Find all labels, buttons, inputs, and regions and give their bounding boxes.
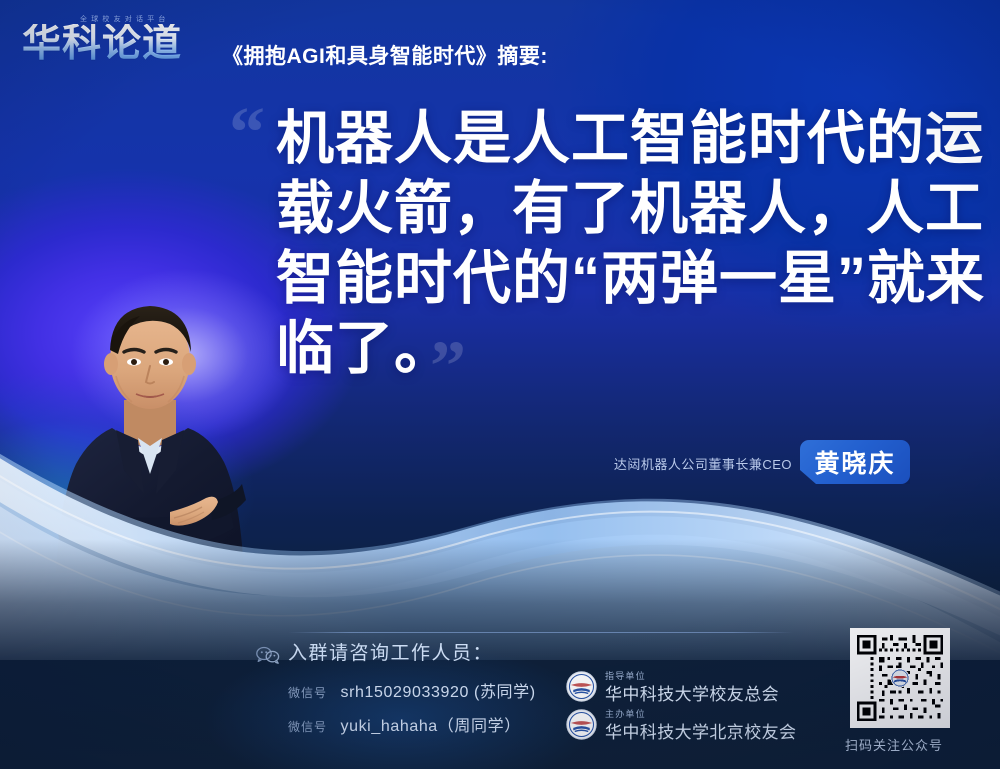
- contact-value: srh15029033920 (苏同学): [340, 684, 535, 701]
- qr-block: 扫码关注公众号: [840, 628, 960, 754]
- logo-text: 华科论道: [22, 24, 182, 63]
- attribution: 达闼机器人公司董事长兼CEO 黄晓庆: [600, 440, 910, 486]
- speaker-name: 黄晓庆: [800, 440, 910, 484]
- quote-line: 临了。: [276, 314, 956, 384]
- brand-logo: 全球校友对话平台 华科论道: [22, 14, 212, 74]
- contact-row: 微信号 srh15029033920 (苏同学): [288, 678, 536, 702]
- quote-text: 机器人是人工智能时代的运 载火箭，有了机器人，人工 智能时代的“两弹一星”就来 …: [276, 104, 956, 384]
- qr-code[interactable]: [850, 628, 950, 728]
- contact-label: 微信号: [288, 720, 327, 734]
- quote-line: 载火箭，有了机器人，人工: [276, 174, 956, 244]
- quote-line: 机器人是人工智能时代的运: [276, 104, 956, 174]
- university-seal-icon: [566, 709, 597, 740]
- qr-caption: 扫码关注公众号: [840, 735, 948, 754]
- contact-label: 微信号: [288, 686, 327, 700]
- speaker-name-badge: 黄晓庆: [800, 440, 910, 484]
- quote-close-mark: ”: [430, 330, 466, 402]
- organization-name: 华中科技大学北京校友会: [605, 718, 796, 743]
- contact-value: yuki_hahaha（周同学）: [340, 718, 520, 735]
- quote-line: 智能时代的“两弹一星”就来: [276, 244, 956, 314]
- footer-divider: [288, 632, 793, 633]
- poster-root: 全球校友对话平台 华科论道 《拥抱AGI和具身智能时代》摘要: “ 机器人是人工…: [0, 0, 1000, 769]
- page-title: 《拥抱AGI和具身智能时代》摘要:: [222, 40, 548, 70]
- organization-name: 华中科技大学校友总会: [605, 680, 779, 705]
- join-group-title: 入群请咨询工作人员：: [288, 638, 493, 665]
- university-seal-icon: [566, 671, 597, 702]
- quote-open-mark: “: [229, 96, 265, 168]
- contact-row: 微信号 yuki_hahaha（周同学）: [288, 712, 521, 736]
- header: 全球校友对话平台 华科论道 《拥抱AGI和具身智能时代》摘要:: [0, 0, 1000, 92]
- wechat-icon: [256, 646, 280, 664]
- speaker-role: 达闼机器人公司董事长兼CEO: [614, 454, 792, 473]
